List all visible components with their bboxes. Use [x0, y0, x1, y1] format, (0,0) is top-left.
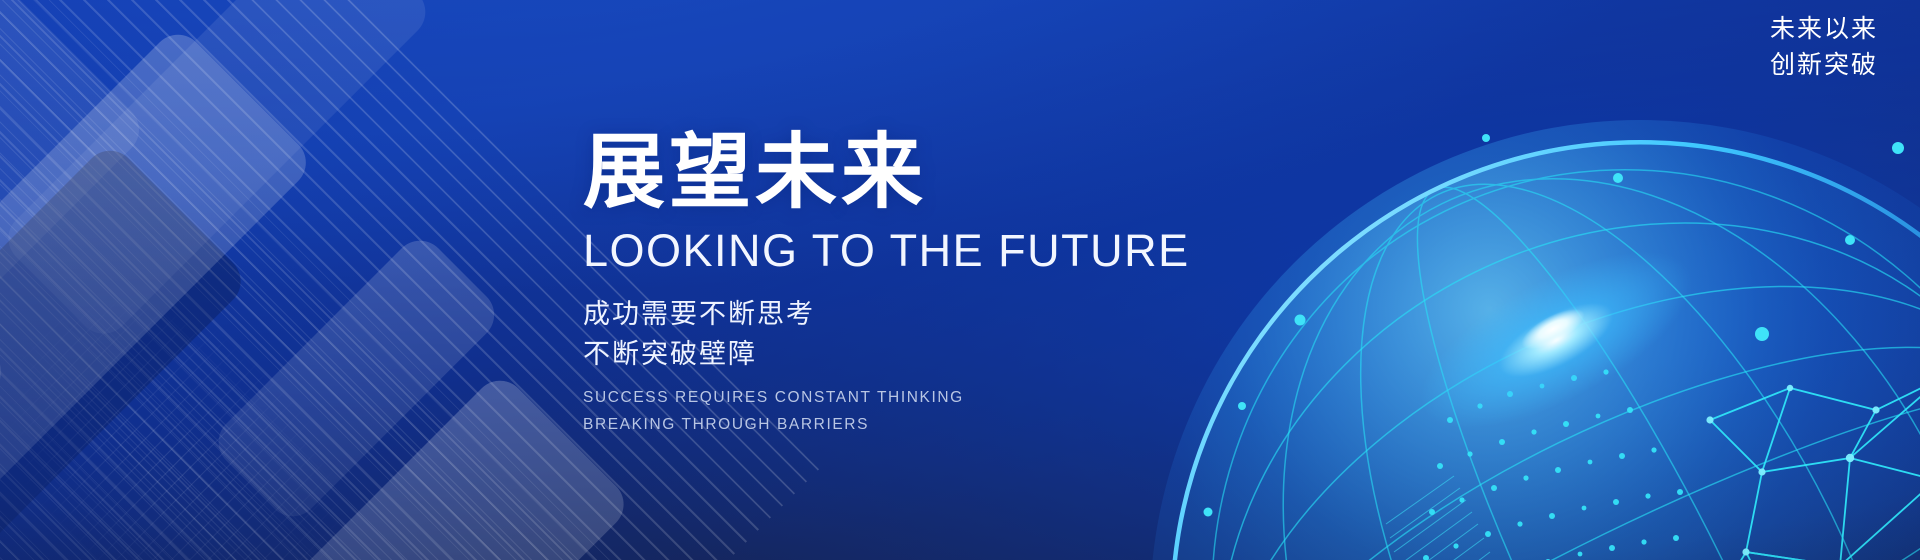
tagline-en-line2: BREAKING THROUGH BARRIERS: [583, 412, 1223, 439]
tagline-cn: 成功需要不断思考 不断突破壁障: [583, 295, 1223, 375]
corner-slogan: 未来以来 创新突破: [1770, 12, 1878, 83]
page-subtitle-en: LOOKING TO THE FUTURE: [583, 228, 1223, 273]
headline-block: 展望未来 LOOKING TO THE FUTURE 成功需要不断思考 不断突破…: [583, 132, 1223, 438]
tagline-cn-line2: 不断突破壁障: [583, 335, 1223, 375]
tagline-en: SUCCESS REQUIRES CONSTANT THINKING BREAK…: [583, 385, 1223, 438]
page-title: 展望未来: [583, 132, 1223, 214]
floating-particles: [1150, 120, 1920, 560]
corner-slogan-line2: 创新突破: [1770, 48, 1878, 84]
banner-canvas: 展望未来 LOOKING TO THE FUTURE 成功需要不断思考 不断突破…: [0, 0, 1920, 560]
corner-slogan-line1: 未来以来: [1770, 12, 1878, 48]
wireframe-globe-icon: [1150, 120, 1920, 560]
tagline-en-line1: SUCCESS REQUIRES CONSTANT THINKING: [583, 385, 1223, 412]
tagline-cn-line1: 成功需要不断思考: [583, 295, 1223, 335]
